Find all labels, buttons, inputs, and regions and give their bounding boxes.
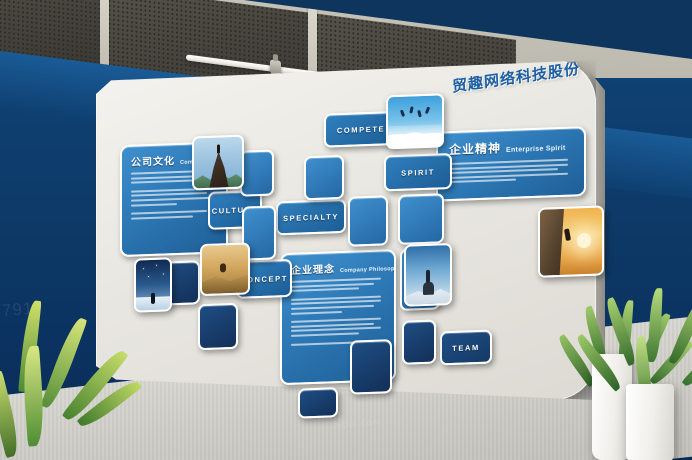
photo-night[interactable] [134,257,172,312]
board-content: 贸趣网络科技股份 公司文化 Company Culture 企业理 [96,42,596,400]
plant-left [0,292,128,460]
page-title: 贸趣网络科技股份 [452,57,581,96]
badge-specialty[interactable]: SPECIALTY [276,199,346,236]
photo-team[interactable] [386,93,444,149]
badge-team[interactable]: TEAM [440,329,492,365]
accent-tile[interactable] [304,155,344,200]
panel-title-cn: 公司文化 [131,152,175,169]
accent-tile[interactable] [240,149,274,196]
badge-spirit[interactable]: SPIRIT [384,153,452,191]
panel-title-cn: 企业精神 [449,139,501,158]
office-culture-wall-scene: 791 昵图网 nipic.com 贸趣网络科技股份 公司文化 Company … [0,0,692,460]
accent-tile[interactable] [350,339,392,395]
planter-right-front [626,384,674,460]
accent-tile[interactable] [198,303,238,350]
panel-title-en: Company Philosophy [340,266,396,274]
panel-title-cn: 企业理念 [291,260,335,277]
accent-tile[interactable] [298,387,338,418]
photo-climber[interactable] [538,205,604,277]
accent-tile[interactable] [402,320,436,365]
photo-peak[interactable] [192,135,244,191]
panel-enterprise-spirit[interactable]: 企业精神 Enterprise Spirit [436,126,586,202]
photo-desert[interactable] [200,242,250,296]
accent-tile[interactable] [348,195,388,246]
panel-title-en: Enterprise Spirit [506,145,566,154]
photo-summit[interactable] [404,243,452,307]
panel-body [438,156,584,192]
culture-wall-board: 贸趣网络科技股份 公司文化 Company Culture 企业理 [96,60,596,400]
accent-tile[interactable] [398,193,444,245]
